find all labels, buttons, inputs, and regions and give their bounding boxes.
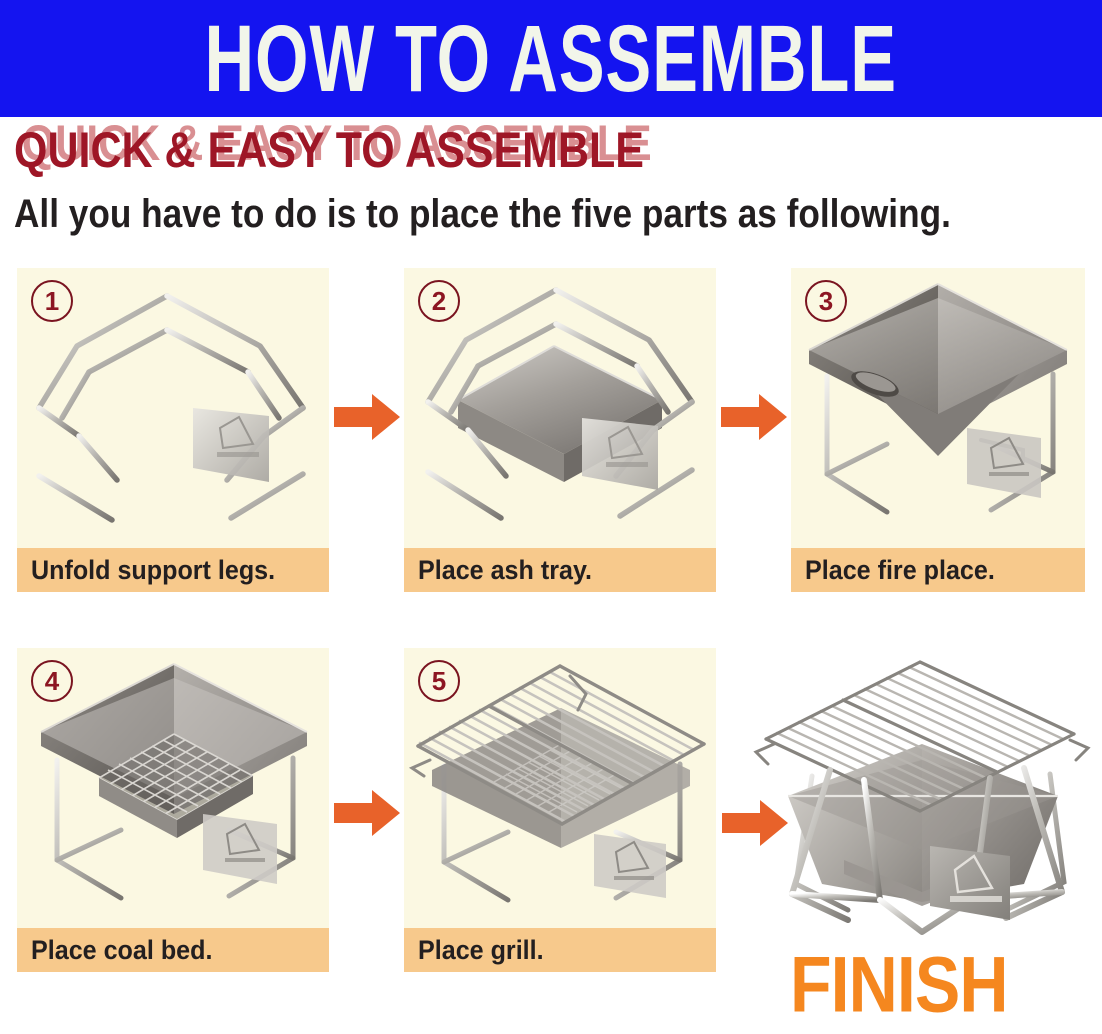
brand-plate-finish [930,846,1010,920]
arrow-step2-to-step3 [721,392,787,442]
step-badge-3: 3 [805,280,847,322]
brand-plate-1 [193,408,269,482]
finish-label: FINISH [790,946,1008,1024]
step-badge-2: 2 [418,280,460,322]
brand-plate-2 [582,418,658,490]
brand-plate-5 [594,834,666,898]
step-panel-4: 4 Place coal bed. [17,648,329,972]
step-caption-text-4: Place coal bed. [31,935,212,966]
finish-product-illustration [752,648,1092,948]
step-panel-2: 2 Place ash tray. [404,268,716,592]
step-caption-text-5: Place grill. [418,935,544,966]
step-caption-bar-3: Place fire place. [791,548,1085,592]
step-caption-text-1: Unfold support legs. [31,555,275,586]
brand-plate-4 [203,814,277,884]
steps-grid: 1 Unfold support legs. [0,0,1102,1034]
brand-plate-3 [967,428,1041,498]
step-caption-bar-5: Place grill. [404,928,716,972]
step-panel-1: 1 Unfold support legs. [17,268,329,592]
arrow-step1-to-step2 [334,392,400,442]
step-badge-5: 5 [418,660,460,702]
step-panel-3: 3 Place fire place. [791,268,1085,592]
step-badge-1: 1 [31,280,73,322]
arrow-step4-to-step5 [334,788,400,838]
step-caption-text-3: Place fire place. [805,555,995,586]
fire-bowl [809,284,1067,456]
step-caption-bar-4: Place coal bed. [17,928,329,972]
step-caption-bar-2: Place ash tray. [404,548,716,592]
step-panel-5: 5 Place grill. [404,648,716,972]
step-caption-bar-1: Unfold support legs. [17,548,329,592]
step-caption-text-2: Place ash tray. [418,555,592,586]
infographic-page: HOW TO ASSEMBLE QUICK & EASY TO ASSEMBLE… [0,0,1102,1034]
step-badge-4: 4 [31,660,73,702]
